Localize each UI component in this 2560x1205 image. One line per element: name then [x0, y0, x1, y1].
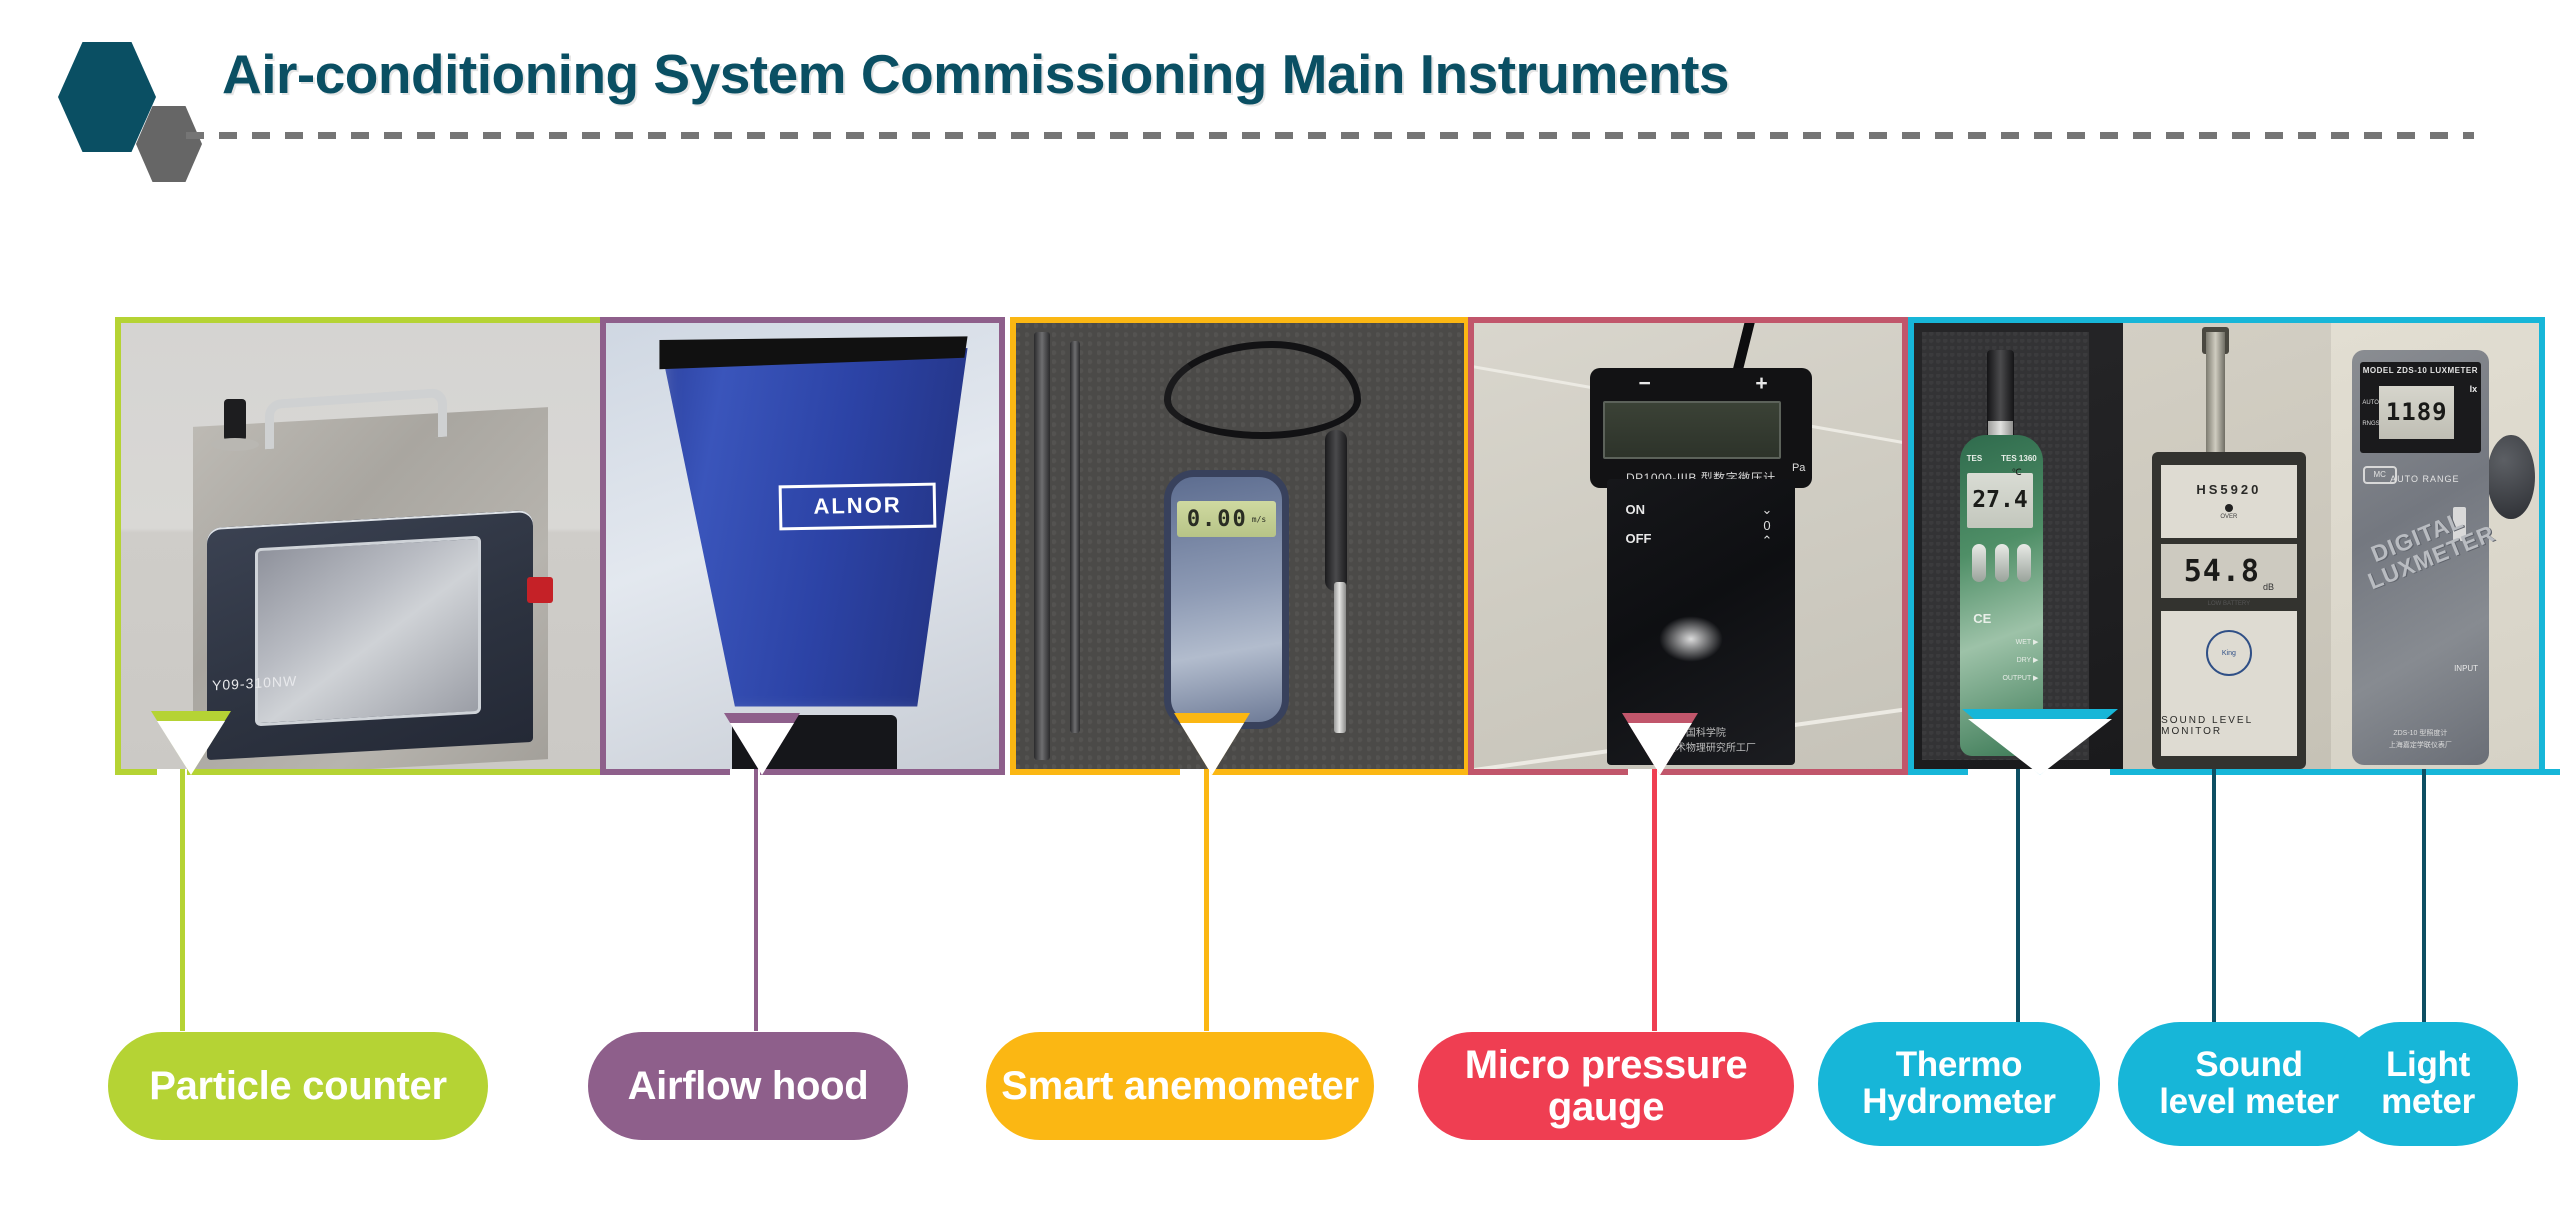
light-sensor-icon	[2487, 435, 2535, 520]
device-logo-icon	[527, 577, 553, 603]
device-model-label: TES 1360	[2001, 454, 2037, 463]
label-smart-anemometer[interactable]: Smart anemometer	[986, 1032, 1374, 1140]
low-battery-label: LOW BATTERY	[2152, 601, 2306, 607]
panel-micro-pressure[interactable]: − + Pa DP1000-IIIB 型数字微压计 ON OFF ⌄0⌃ 中国科…	[1468, 317, 1908, 769]
photo-micro-pressure-gauge: − + Pa DP1000-IIIB 型数字微压计 ON OFF ⌄0⌃ 中国科…	[1474, 323, 1902, 769]
connector-micro-pressure	[1652, 769, 1657, 1031]
device-brand-label: ALNOR	[779, 482, 937, 529]
panel-smart-anemometer[interactable]: 0.00 m/s	[1010, 317, 1470, 769]
switch-on-label: ON	[1626, 496, 1652, 525]
photo-smart-anemometer: 0.00 m/s	[1016, 323, 1464, 769]
auto-range-label: AUTO RANGE	[2390, 474, 2459, 484]
page-title: Air-conditioning System Commissioning Ma…	[222, 42, 1729, 106]
label-thermo-hydrometer[interactable]: Thermo Hydrometer	[1818, 1022, 2100, 1146]
anemometer-display: 0.00 m/s	[1177, 501, 1276, 537]
connector-light	[2422, 769, 2426, 1031]
lux-footer-line-1: ZDS-10 型照度计	[2352, 728, 2489, 740]
anemometer-unit: m/s	[1252, 515, 1266, 524]
label-airflow-hood[interactable]: Airflow hood	[588, 1032, 908, 1140]
header-dashed-rule	[186, 132, 2474, 139]
photo-particle-counter: Y09-310NW	[121, 323, 601, 769]
label-particle-counter[interactable]: Particle counter	[108, 1032, 488, 1140]
input-label: INPUT	[2454, 664, 2478, 673]
plus-icon: +	[1755, 372, 1767, 396]
device-model-label: MODEL ZDS-10 LUXMETER	[2360, 366, 2481, 375]
device-model-label: HS5920	[2196, 482, 2261, 497]
label-micro-pressure-gauge[interactable]: Micro pressure gauge	[1418, 1032, 1794, 1140]
brand-seal-icon: King	[2206, 630, 2252, 676]
photo-sound-level-meter: HS5920 OVER 54.8 dB LOW BATTERY King SOU…	[2123, 323, 2331, 769]
over-label: OVER	[2220, 514, 2237, 520]
lux-side-labels: AUTO RNGS	[2362, 393, 2379, 434]
panel-airflow-hood[interactable]: ALNOR	[600, 317, 1005, 769]
label-light-meter[interactable]: Light meter	[2338, 1022, 2518, 1146]
anemometer-reading: 0.00	[1187, 507, 1248, 532]
photo-airflow-hood: ALNOR	[606, 323, 999, 769]
connector-particle-counter	[180, 769, 185, 1031]
lux-reading: 1189	[2386, 398, 2448, 426]
connector-smart-anemometer	[1204, 769, 1209, 1031]
minus-icon: −	[1639, 372, 1651, 396]
panel-light-group[interactable]: TES TES 1360 27.4 ℃ CE WET ▶ DRY ▶ OUTPU…	[1908, 317, 2545, 769]
photo-thermo-hydrometer: TES TES 1360 27.4 ℃ CE WET ▶ DRY ▶ OUTPU…	[1914, 323, 2123, 769]
sound-meter-caption: SOUND LEVEL MONITOR	[2161, 715, 2297, 737]
thermo-port-labels: WET ▶ DRY ▶ OUTPUT ▶	[2002, 634, 2038, 689]
over-indicator-icon	[2225, 504, 2233, 512]
zero-label: 0	[1761, 518, 1772, 533]
ce-mark-icon: CE	[1973, 611, 1991, 626]
thermo-unit: ℃	[2012, 467, 2022, 478]
panel-particle-counter[interactable]: Y09-310NW	[115, 317, 607, 769]
sound-unit: dB	[2263, 582, 2274, 592]
switch-off-label: OFF	[1626, 525, 1652, 554]
connector-thermo	[2016, 769, 2020, 1031]
sound-reading: 54.8	[2184, 554, 2260, 589]
connector-sound	[2212, 769, 2216, 1031]
device-brand-label: TES	[1967, 454, 1983, 463]
lux-unit: lx	[2470, 384, 2478, 394]
lux-footer-line-2: 上海嘉定学联仪表厂	[2352, 740, 2489, 752]
slide-canvas: Air-conditioning System Commissioning Ma…	[0, 0, 2560, 1205]
connector-airflow-hood	[754, 769, 758, 1031]
photo-light-meter: MODEL ZDS-10 LUXMETER 1189 lx AUTO RNGS …	[2331, 323, 2539, 769]
thermo-reading: 27.4	[1972, 487, 2027, 513]
